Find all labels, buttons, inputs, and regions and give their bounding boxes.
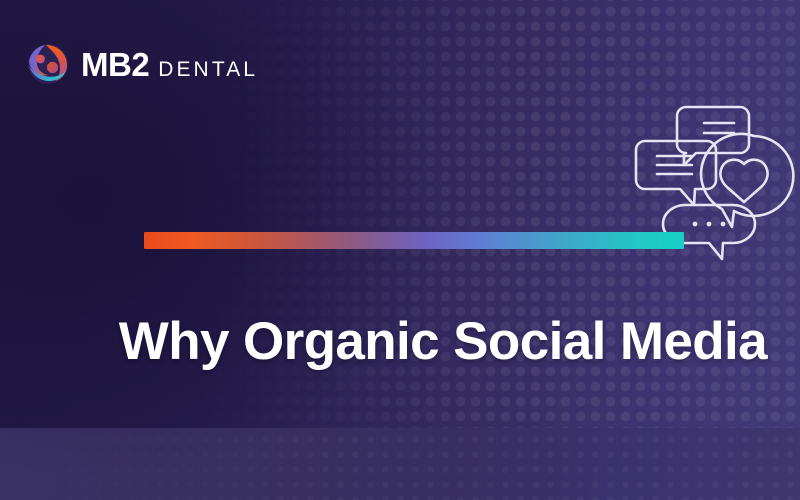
headline-gradient-underline — [144, 232, 684, 249]
banner-canvas: MB2 DENTAL — [0, 0, 800, 500]
mb2-circle-mark-icon — [26, 42, 70, 86]
brand-logo[interactable]: MB2 DENTAL — [26, 42, 258, 86]
headline-line-1-text: Why Organic Social Media — [119, 312, 767, 371]
headline-block: Why Organic Social Media Matters More Th… — [34, 192, 764, 500]
headline-line-1: Why Organic Social Media — [34, 192, 764, 432]
headline-line-2: Matters More ThanYou Think — [34, 438, 764, 500]
logo-text-dental: DENTAL — [158, 59, 258, 80]
logo-text-mb2: MB2 — [81, 48, 149, 81]
